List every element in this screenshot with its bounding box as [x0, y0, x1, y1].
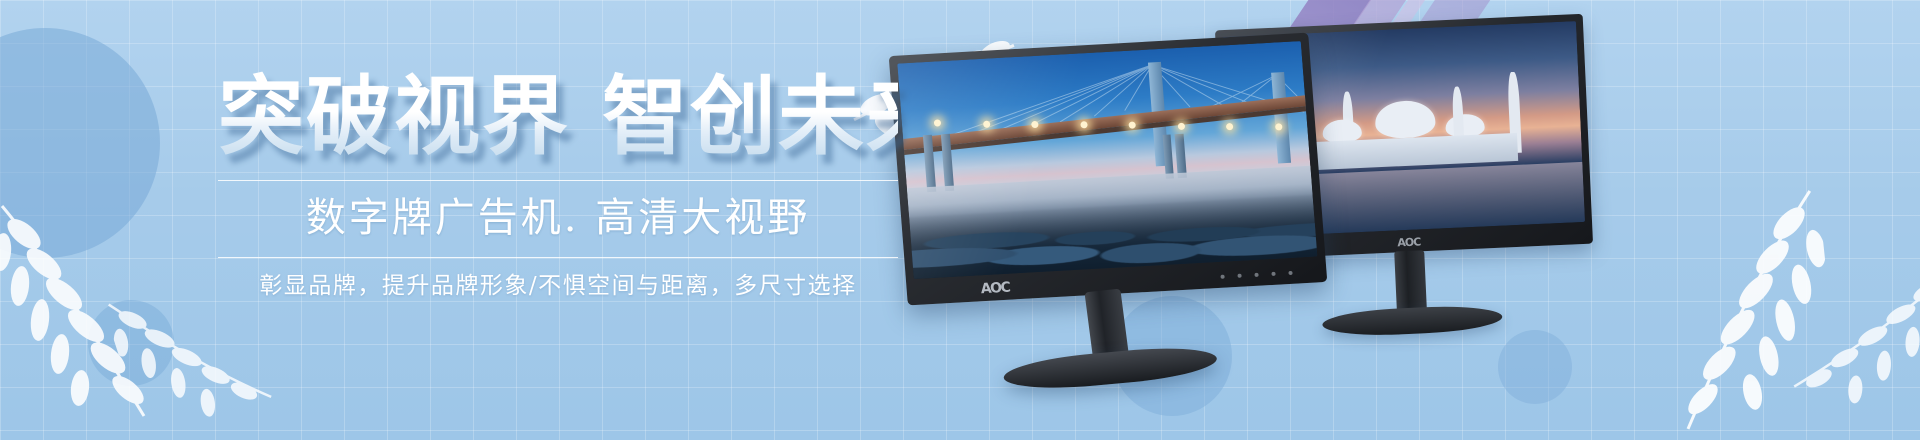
tagline: 彰显品牌，提升品牌形象/不惧空间与距离，多尺寸选择	[218, 272, 898, 302]
monitor-rear-stand-base	[1322, 304, 1503, 338]
monitor-rear-logo: AOC	[1397, 235, 1421, 249]
promo-banner: 突破视界 智创未来 数字牌广告机. 高清大视野 彰显品牌，提升品牌形象/不惧空间…	[0, 0, 1920, 440]
monitor-front-screen	[897, 41, 1317, 279]
headline: 突破视界 智创未来	[218, 70, 898, 170]
aoc-monitor-front: AOC	[889, 33, 1328, 306]
screen-art-bridge	[897, 41, 1317, 279]
monitor-rear-stand-neck	[1394, 250, 1427, 313]
decor-circle-small-left	[88, 300, 174, 386]
divider-top	[218, 180, 898, 181]
decor-circle-large-left	[0, 28, 160, 258]
subtitle: 数字牌广告机. 高清大视野	[218, 193, 898, 243]
divider-bottom	[218, 257, 898, 258]
banner-copy: 突破视界 智创未来 数字牌广告机. 高清大视野 彰显品牌，提升品牌形象/不惧空间…	[218, 70, 898, 302]
monitor-front-logo: AOC	[980, 280, 1010, 298]
monitor-front-bezel	[889, 33, 1328, 306]
product-group: AOC	[880, 0, 1920, 440]
